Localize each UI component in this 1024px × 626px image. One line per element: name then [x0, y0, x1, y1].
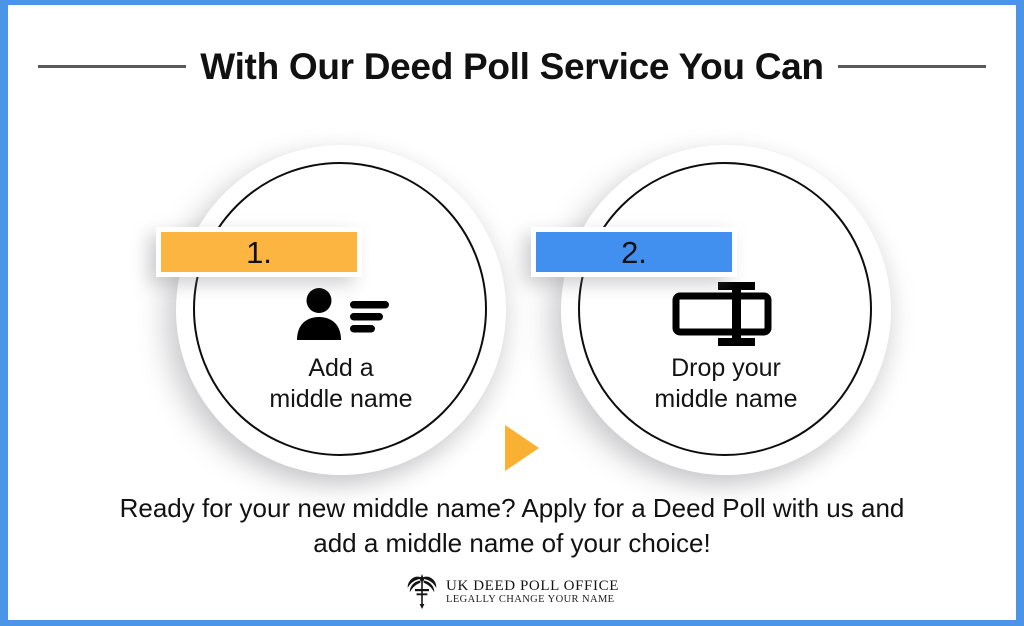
logo-tagline: LEGALLY CHANGE YOUR NAME — [446, 594, 619, 606]
step-badge-1[interactable]: 1. — [156, 227, 362, 277]
page-title-row: With Our Deed Poll Service You Can — [8, 35, 1016, 97]
step-icon-wrap-2 — [561, 285, 891, 347]
step-label-2: Drop your middle name — [561, 353, 891, 414]
step-label-1-line2: middle name — [176, 384, 506, 415]
crest-icon — [405, 571, 439, 614]
caption: Ready for your new middle name? Apply fo… — [62, 491, 962, 561]
step-label-2-line2: middle name — [561, 384, 891, 415]
step-number-1: 1. — [246, 237, 272, 268]
infographic-canvas: With Our Deed Poll Service You Can — [0, 0, 1024, 626]
caption-line1: Ready for your new middle name? Apply fo… — [62, 491, 962, 526]
infographic-inner: With Our Deed Poll Service You Can — [8, 5, 1016, 620]
title-rule-right — [838, 65, 986, 68]
step-card-2: Drop your middle name 2. — [561, 145, 891, 475]
logo-text: UK DEED POLL OFFICE LEGALLY CHANGE YOUR … — [446, 579, 619, 607]
step-card-1: Add a middle name 1. — [176, 145, 506, 475]
caption-line2: add a middle name of your choice! — [62, 526, 962, 561]
step-icon-wrap-1 — [176, 285, 506, 347]
steps-container: Add a middle name 1. — [8, 135, 1016, 485]
step-number-2: 2. — [621, 237, 647, 268]
step-label-1: Add a middle name — [176, 353, 506, 414]
title-rule-left — [38, 65, 186, 68]
footer-logo: UK DEED POLL OFFICE LEGALLY CHANGE YOUR … — [8, 571, 1016, 614]
text-field-cursor-icon — [672, 279, 780, 354]
step-label-1-line1: Add a — [176, 353, 506, 384]
page-title: With Our Deed Poll Service You Can — [200, 48, 823, 85]
step-badge-2[interactable]: 2. — [531, 227, 737, 277]
step-label-2-line1: Drop your — [561, 353, 891, 384]
person-lines-icon — [294, 288, 389, 345]
logo-name: UK DEED POLL OFFICE — [446, 579, 619, 595]
step-arrow-icon — [505, 425, 539, 471]
